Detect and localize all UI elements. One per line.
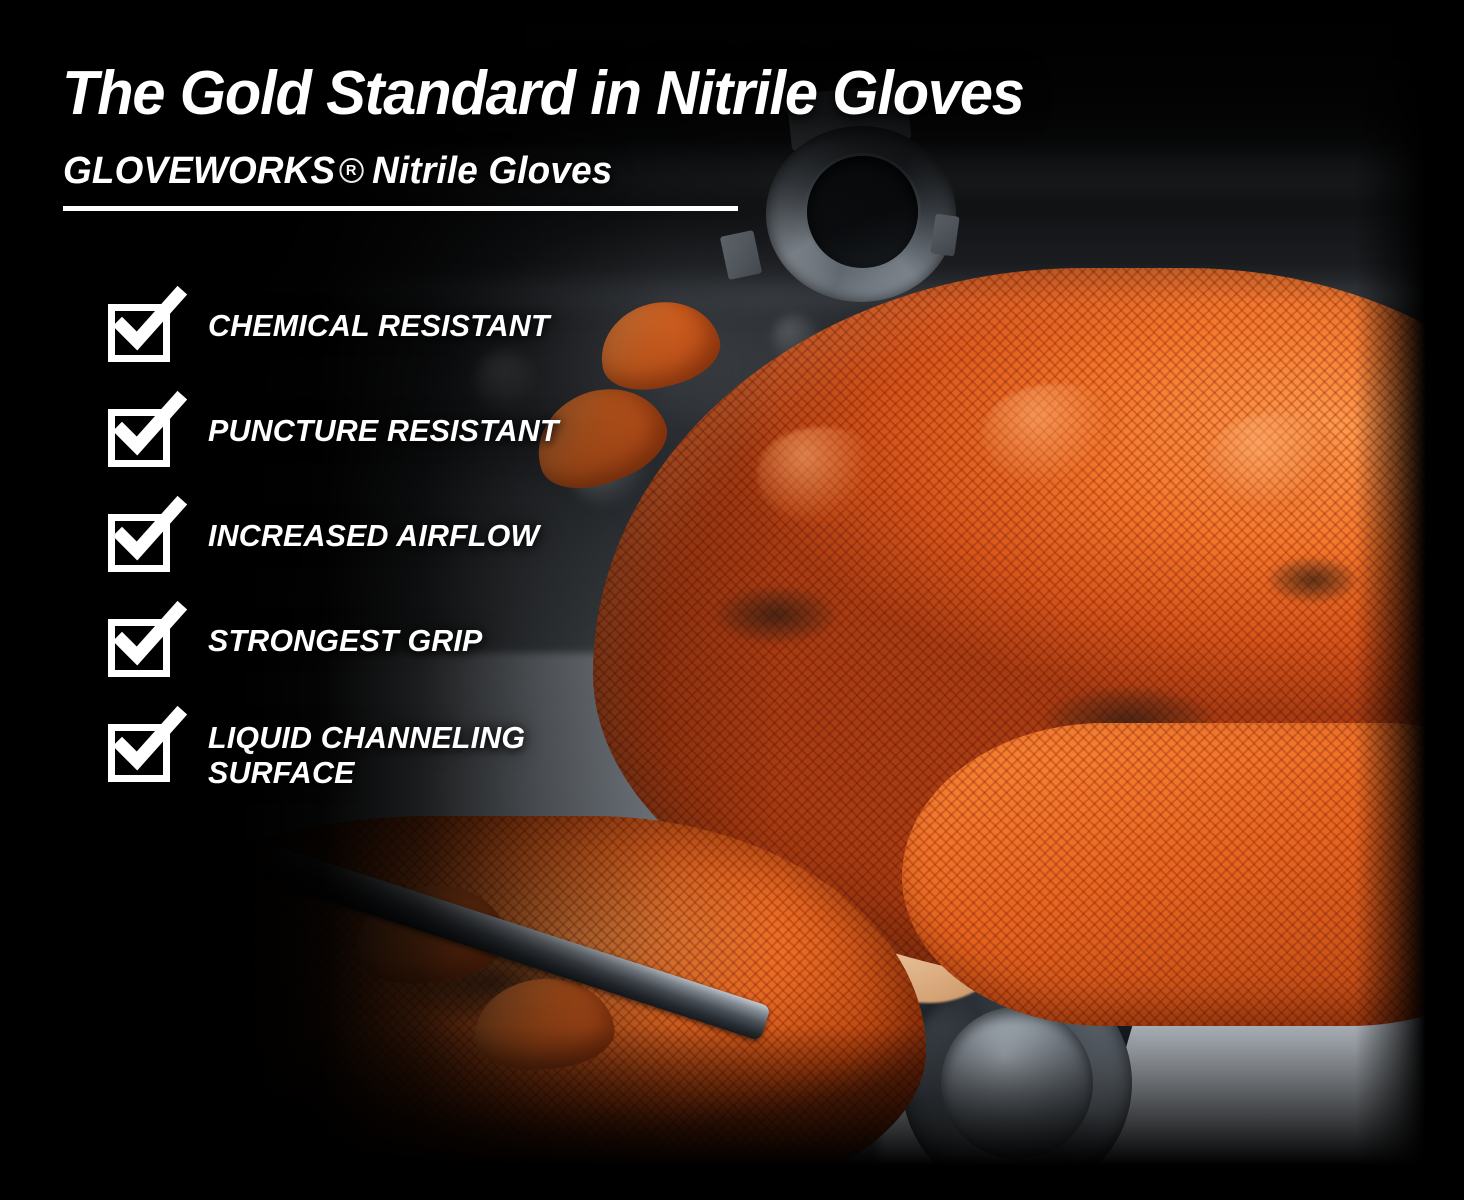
brand-name: GLOVEWORKS [63,150,335,193]
list-item-label: PUNCTURE RESISTANT [208,405,559,449]
list-item: STRONGEST GRIP [108,615,566,677]
registered-trademark-icon: R [339,158,363,183]
gloveworks-banner: 45 [0,0,1464,1200]
checkbox-checked-icon [108,409,170,467]
list-item: CHEMICAL RESISTANT [108,300,566,362]
page-title: The Gold Standard in Nitrile Gloves [62,58,1024,129]
checkbox-checked-icon [108,514,170,572]
checkbox-checked-icon [108,304,170,362]
list-item-label: INCREASED AIRFLOW [208,510,539,554]
brand-subtitle: GLOVEWORKS R Nitrile Gloves [63,150,612,193]
feature-list: CHEMICAL RESISTANT PUNCTURE RESISTANT [108,300,566,790]
checkbox-checked-icon [108,619,170,677]
list-item: PUNCTURE RESISTANT [108,405,566,467]
list-item-label: CHEMICAL RESISTANT [208,300,550,344]
list-item-label: LIQUID CHANNELING SURFACE [208,720,525,790]
title-divider [63,206,738,211]
product-name: Nitrile Gloves [372,150,612,193]
list-item-label: STRONGEST GRIP [208,615,483,659]
list-item: LIQUID CHANNELING SURFACE [108,720,566,790]
text-overlay: The Gold Standard in Nitrile Gloves GLOV… [0,0,1464,1200]
checkbox-checked-icon [108,724,170,782]
list-item: INCREASED AIRFLOW [108,510,566,572]
